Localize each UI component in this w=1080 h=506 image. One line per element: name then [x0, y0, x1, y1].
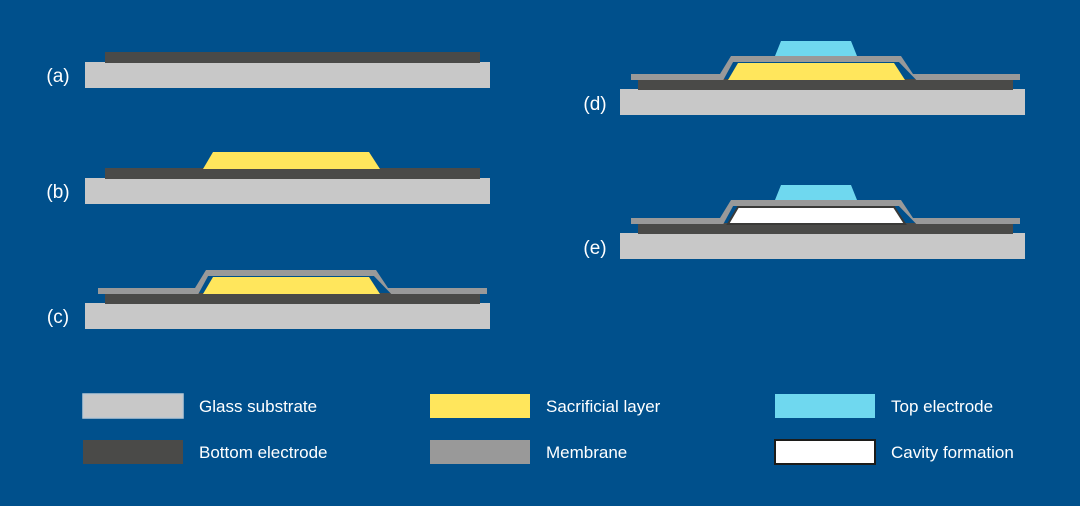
legend-swatch-top-electrode: [775, 394, 875, 418]
panel-label-b: (b): [46, 182, 69, 203]
legend-swatch-sacrificial-layer: [430, 394, 530, 418]
glass-substrate-layer: [85, 178, 490, 204]
top-electrode-layer: [775, 41, 857, 56]
legend-item: Cavity formation: [775, 440, 1014, 464]
legend-item: Bottom electrode: [83, 440, 328, 464]
process-flow-figure: (a)(b)(c)(d)(e) Glass substrateBottom el…: [0, 0, 1080, 506]
glass-substrate-layer: [620, 89, 1025, 115]
legend-swatch-bottom-electrode: [83, 440, 183, 464]
panel-label-e: (e): [583, 238, 606, 259]
sacrificial-layer: [728, 63, 905, 80]
legend-label-bottom-electrode: Bottom electrode: [199, 443, 328, 462]
legend-label-cavity: Cavity formation: [891, 443, 1014, 462]
legend-label-membrane: Membrane: [546, 443, 627, 462]
legend-label-top-electrode: Top electrode: [891, 397, 993, 416]
glass-substrate-layer: [620, 233, 1025, 259]
legend-item: Glass substrate: [83, 394, 317, 418]
top-electrode-layer: [775, 185, 857, 200]
bottom-electrode-layer: [105, 52, 480, 63]
legend-swatch-membrane: [430, 440, 530, 464]
panel-label-a: (a): [46, 66, 69, 87]
panel-label-c: (c): [47, 307, 69, 328]
bottom-electrode-layer: [638, 79, 1013, 90]
glass-substrate-layer: [85, 62, 490, 88]
sacrificial-layer: [203, 277, 380, 294]
legend-label-sacrificial-layer: Sacrificial layer: [546, 397, 661, 416]
sacrificial-layer: [203, 152, 380, 169]
bottom-electrode-layer: [105, 168, 480, 179]
legend-swatch-glass-substrate: [83, 394, 183, 418]
panel-label-d: (d): [583, 94, 606, 115]
legend-label-glass-substrate: Glass substrate: [199, 397, 317, 416]
legend-swatch-cavity: [775, 440, 875, 464]
glass-substrate-layer: [85, 303, 490, 329]
legend-item: Sacrificial layer: [430, 394, 661, 418]
bottom-electrode-layer: [105, 293, 480, 304]
diagram-canvas: (a)(b)(c)(d)(e) Glass substrateBottom el…: [0, 0, 1080, 506]
cavity-region: [728, 207, 905, 224]
legend-item: Membrane: [430, 440, 627, 464]
panel-a: [85, 52, 490, 88]
